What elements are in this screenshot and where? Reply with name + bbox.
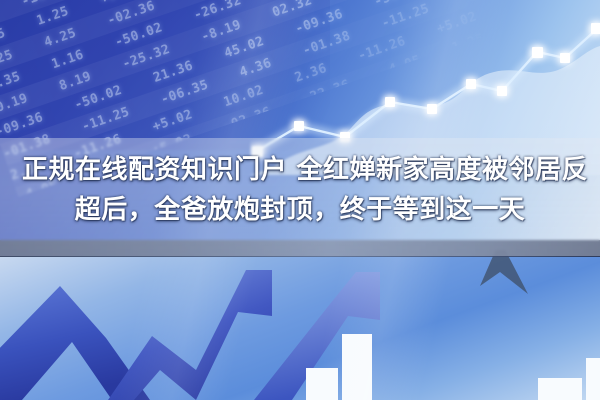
headline-line-1: 正规在线配资知识门户 全红婵新家高度被邻居反 <box>18 150 582 190</box>
white-bar-chart <box>300 250 600 400</box>
arrow-ribbon-middle <box>108 270 272 400</box>
headline-line-2: 超后，全爸放炮封顶，终于等到这一天 <box>18 190 582 230</box>
bar-3 <box>538 378 582 400</box>
headline-text: 正规在线配资知识门户 全红婵新家高度被邻居反 超后，全爸放炮封顶，终于等到这一天 <box>0 150 600 230</box>
bar-4 <box>586 358 600 400</box>
bar-1 <box>306 368 338 400</box>
banner-image: -09.36-50.0221.3645.02-09.36-50.0221.364… <box>0 0 600 400</box>
bar-2 <box>342 334 372 400</box>
